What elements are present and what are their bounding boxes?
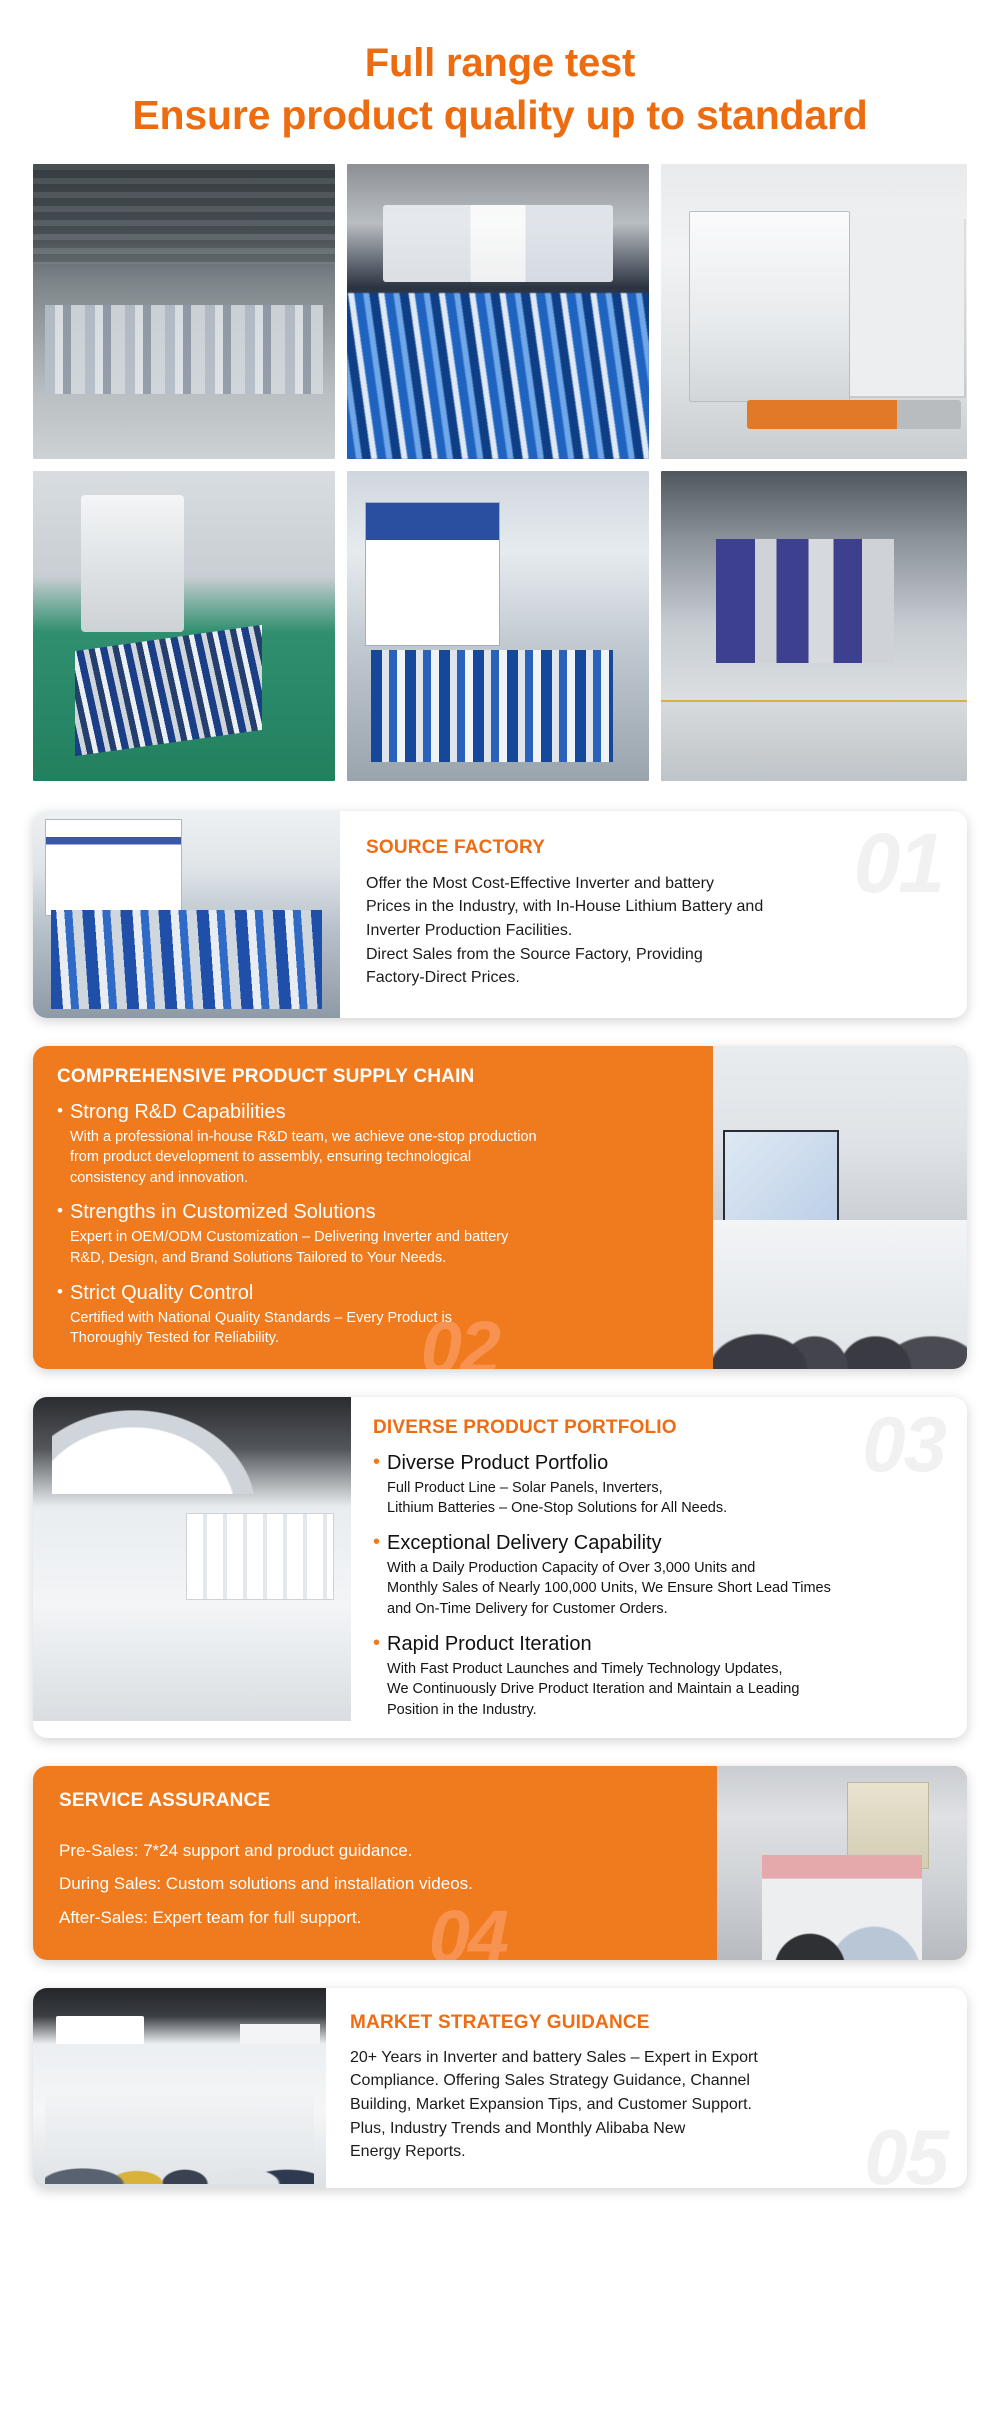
card-body-service-assurance: 04 SERVICE ASSURANCE Pre-Sales: 7*24 sup… <box>33 1766 717 1959</box>
bullet-head: Strong R&D Capabilities <box>70 1100 537 1125</box>
card-service-assurance: 04 SERVICE ASSURANCE Pre-Sales: 7*24 sup… <box>33 1766 967 1959</box>
bullet-dot-icon: • <box>57 1100 63 1189</box>
bullet-sub: Full Product Line – Solar Panels, Invert… <box>387 1478 727 1519</box>
factory-photo-grid <box>33 164 967 781</box>
card-paragraph-service-assurance: Pre-Sales: 7*24 support and product guid… <box>59 1834 691 1933</box>
bullet-dot-icon: • <box>373 1451 380 1519</box>
card-body-market-strategy: 05 MARKET STRATEGY GUIDANCE 20+ Years in… <box>326 1988 967 2188</box>
card-supply-chain: 02 COMPREHENSIVE PRODUCT SUPPLY CHAIN • … <box>33 1046 967 1369</box>
card-paragraph-source-factory: Offer the Most Cost-Effective Inverter a… <box>366 872 937 990</box>
bullet-item: • Rapid Product Iteration With Fast Prod… <box>373 1632 941 1721</box>
card-paragraph-market-strategy: 20+ Years in Inverter and battery Sales … <box>350 2046 941 2164</box>
card-photo-source-factory <box>33 811 340 1018</box>
card-title-product-portfolio: DIVERSE PRODUCT PORTFOLIO <box>373 1417 941 1439</box>
bullet-list-product-portfolio: • Diverse Product Portfolio Full Product… <box>373 1451 941 1721</box>
bullet-head: Exceptional Delivery Capability <box>387 1531 831 1556</box>
bullet-item: • Diverse Product Portfolio Full Product… <box>373 1451 941 1519</box>
card-photo-trade-expo <box>33 1988 326 2188</box>
bullet-sub: With a professional in-house R&D team, w… <box>70 1127 537 1189</box>
bullet-item: • Strong R&D Capabilities With a profess… <box>57 1100 693 1189</box>
bullet-item: • Strict Quality Control Certified with … <box>57 1281 693 1349</box>
photo-robotic-battery-pack-handling <box>33 471 335 781</box>
bullet-dot-icon: • <box>57 1200 63 1268</box>
bullet-dot-icon: • <box>57 1281 63 1349</box>
bullet-sub: Expert in OEM/ODM Customization – Delive… <box>70 1227 508 1268</box>
card-title-service-assurance: SERVICE ASSURANCE <box>59 1790 691 1812</box>
card-title-supply-chain: COMPREHENSIVE PRODUCT SUPPLY CHAIN <box>57 1066 693 1088</box>
card-title-market-strategy: MARKET STRATEGY GUIDANCE <box>350 2012 941 2034</box>
bullet-sub: Certified with National Quality Standard… <box>70 1308 452 1349</box>
card-photo-showroom <box>33 1397 351 1721</box>
photo-assembly-line-workers <box>347 471 649 781</box>
bullet-sub: With Fast Product Launches and Timely Te… <box>387 1659 799 1721</box>
card-body-source-factory: 01 SOURCE FACTORY Offer the Most Cost-Ef… <box>340 811 967 1018</box>
card-body-supply-chain: 02 COMPREHENSIVE PRODUCT SUPPLY CHAIN • … <box>33 1046 713 1369</box>
page-header: Full range test Ensure product quality u… <box>0 0 1000 142</box>
bullet-dot-icon: • <box>373 1632 380 1721</box>
card-market-strategy: 05 MARKET STRATEGY GUIDANCE 20+ Years in… <box>33 1988 967 2188</box>
photo-production-hall-equipment <box>661 471 967 781</box>
photo-cleanroom-battery-cell-line <box>347 164 649 459</box>
advantage-cards: 01 SOURCE FACTORY Offer the Most Cost-Ef… <box>33 811 967 2188</box>
card-product-portfolio: 03 DIVERSE PRODUCT PORTFOLIO • Diverse P… <box>33 1397 967 1739</box>
card-photo-service-office <box>717 1766 967 1959</box>
card-source-factory: 01 SOURCE FACTORY Offer the Most Cost-Ef… <box>33 811 967 1018</box>
bullet-head: Strengths in Customized Solutions <box>70 1200 508 1225</box>
card-photo-rd-meeting <box>713 1046 967 1369</box>
bullet-dot-icon: • <box>373 1531 380 1620</box>
header-title-line-1: Full range test <box>0 38 1000 89</box>
bullet-item: • Strengths in Customized Solutions Expe… <box>57 1200 693 1268</box>
card-title-source-factory: SOURCE FACTORY <box>366 837 937 859</box>
photo-factory-workshop-overview <box>33 164 335 459</box>
photo-row-2 <box>33 471 967 781</box>
bullet-item: • Exceptional Delivery Capability With a… <box>373 1531 941 1620</box>
photo-automated-testing-machines <box>661 164 967 459</box>
photo-row-1 <box>33 164 967 459</box>
card-body-product-portfolio: 03 DIVERSE PRODUCT PORTFOLIO • Diverse P… <box>351 1397 967 1739</box>
bullet-head: Rapid Product Iteration <box>387 1632 799 1657</box>
bullet-list-supply-chain: • Strong R&D Capabilities With a profess… <box>57 1100 693 1349</box>
bullet-head: Diverse Product Portfolio <box>387 1451 727 1476</box>
bullet-sub: With a Daily Production Capacity of Over… <box>387 1558 831 1620</box>
bullet-head: Strict Quality Control <box>70 1281 452 1306</box>
header-title-line-2: Ensure product quality up to standard <box>0 89 1000 141</box>
